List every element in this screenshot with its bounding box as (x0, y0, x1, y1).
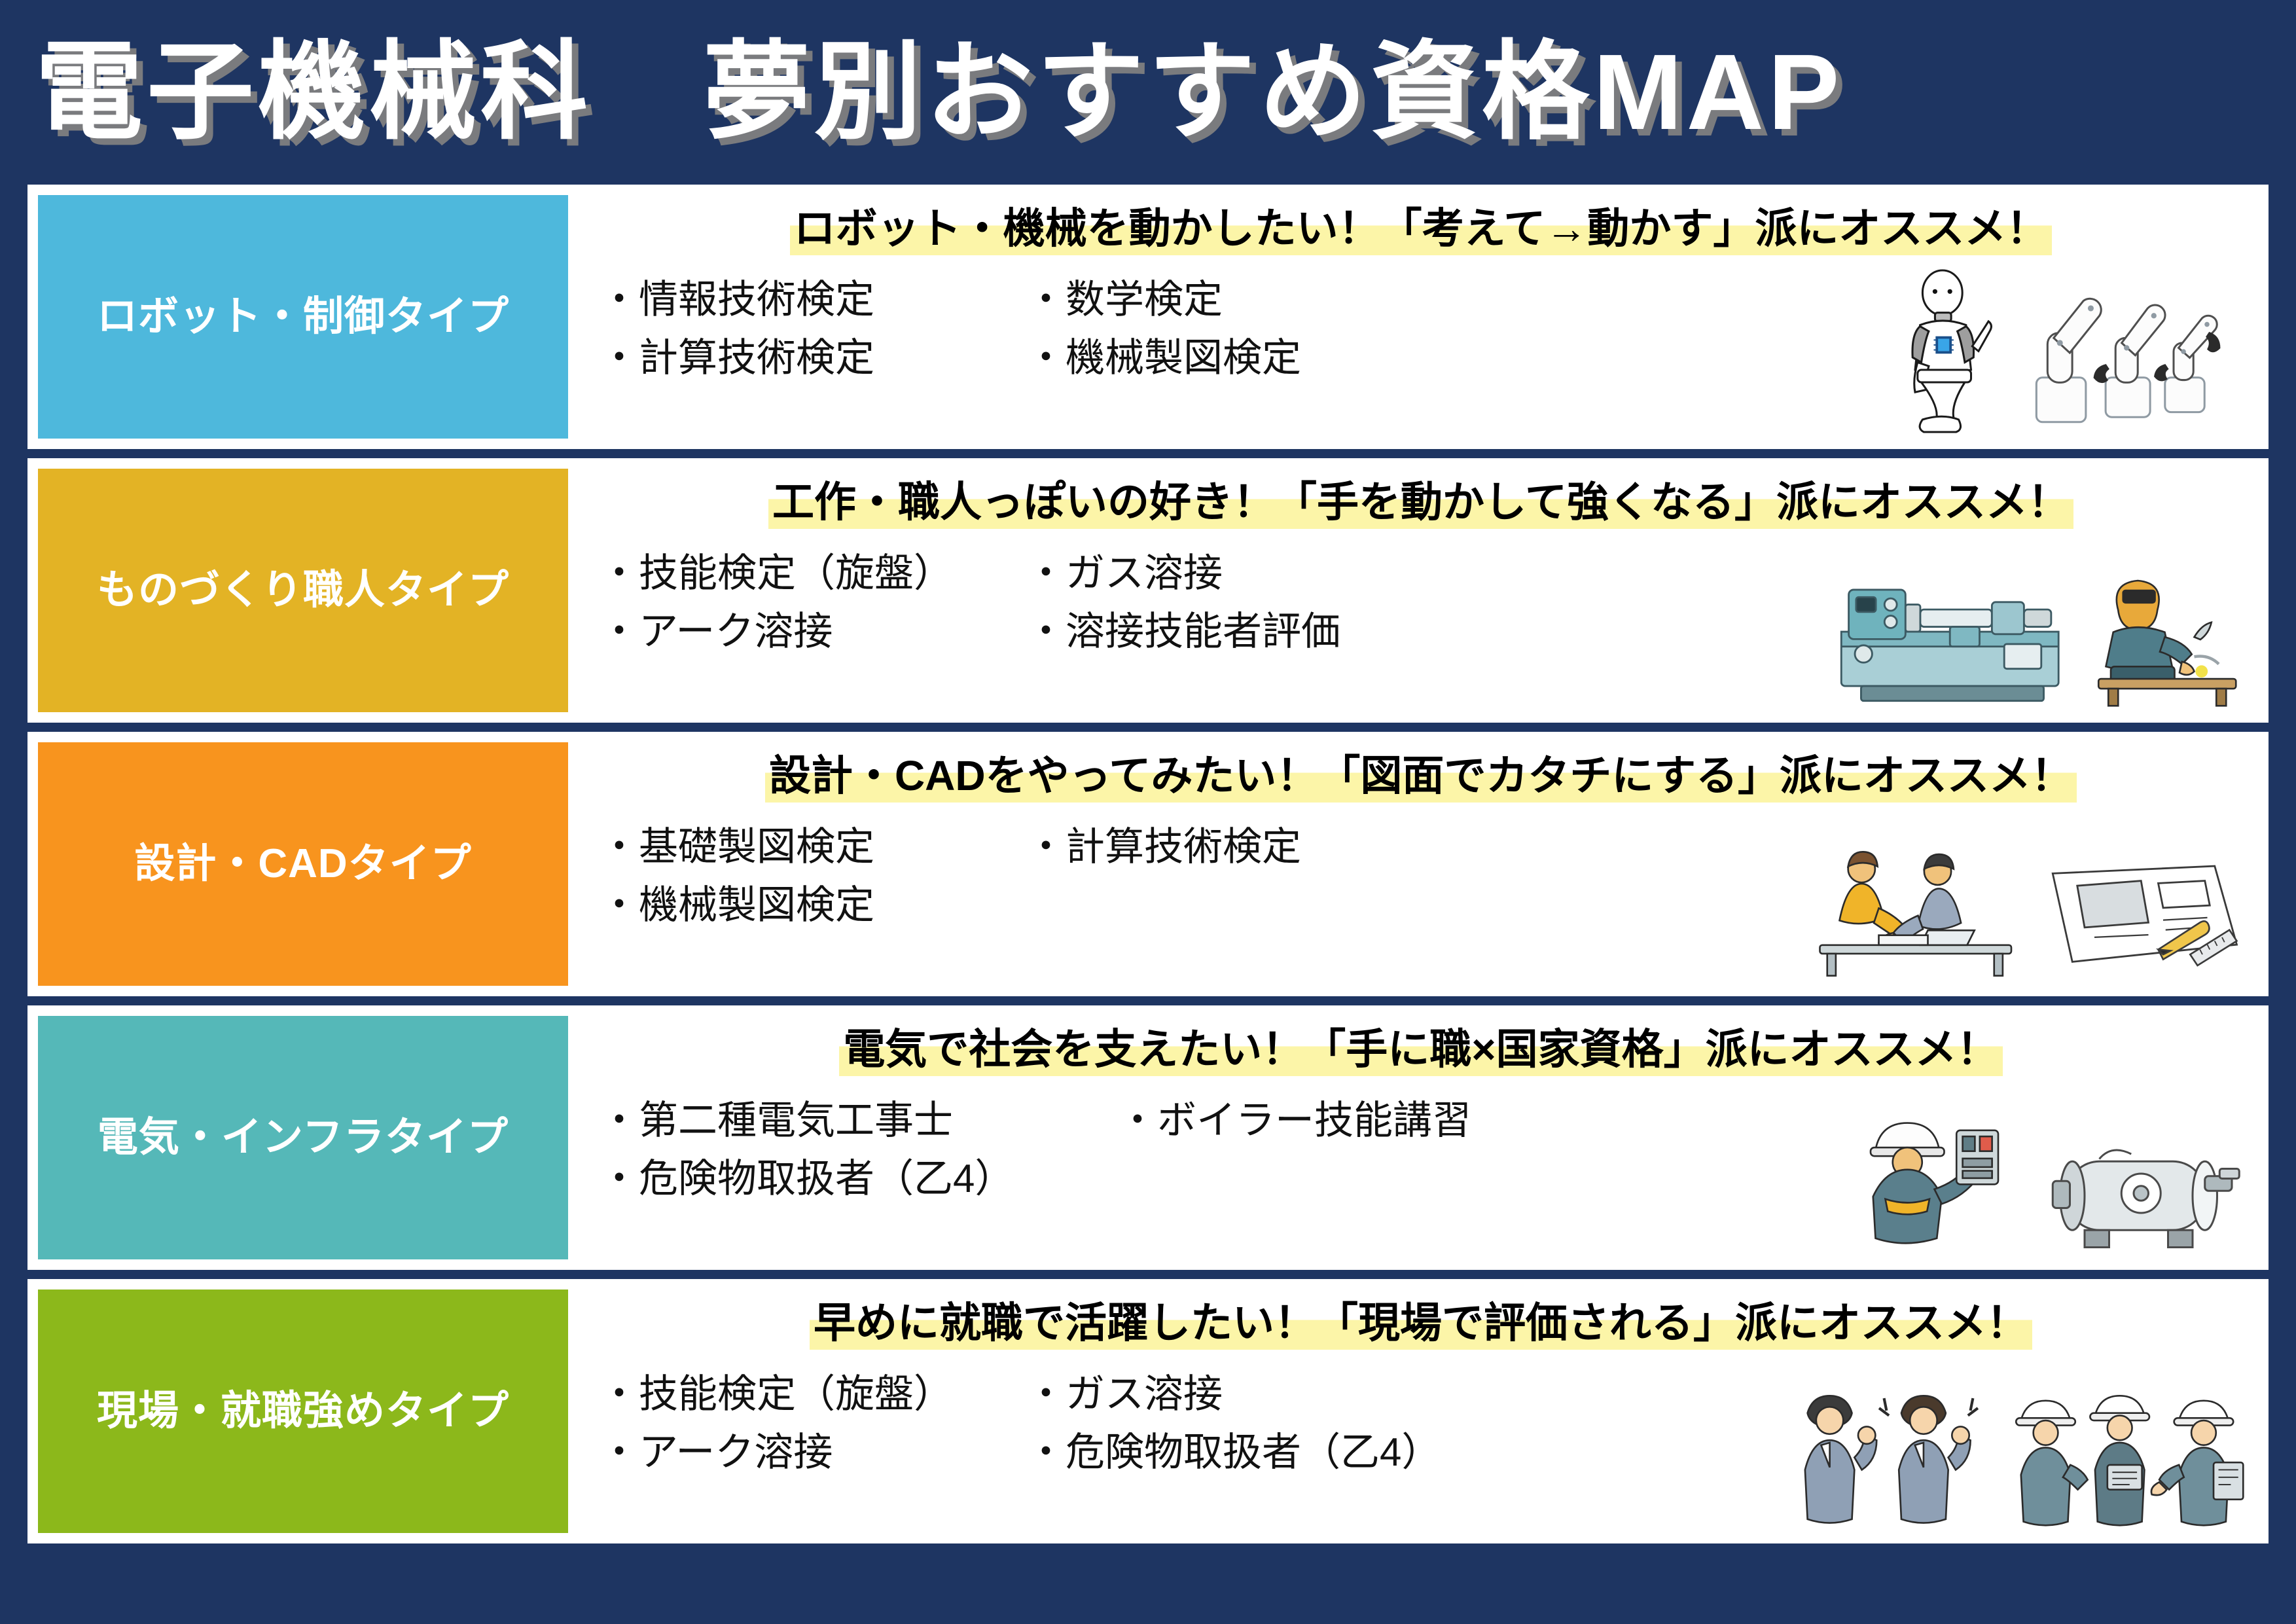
headline-wrap: 設計・CADをやってみたい！「図面でカタチにする」派にオススメ！ (590, 753, 2258, 803)
row-headline-jobsite: 早めに就職で活躍したい！「現場で評価される」派にオススメ！ (810, 1300, 2032, 1350)
list-item: ・技能検定（旋盤） (600, 549, 1005, 598)
row-headline-robot: ロボット・機械を動かしたい！「考えて→動かす」派にオススメ！ (790, 206, 2053, 255)
row-label-robot[interactable]: ロボット・制御タイプ (38, 195, 568, 439)
row-headline-cad: 設計・CADをやってみたい！「図面でカタチにする」派にオススメ！ (765, 753, 2077, 803)
category-rows: ロボット・制御タイプ ロボット・機械を動かしたい！「考えて→動かす」派にオススメ… (0, 185, 2296, 1567)
list-item: ・計算技術検定 (1026, 822, 2258, 871)
list-item (1118, 1154, 2258, 1203)
list-item: ・計算技術検定 (600, 333, 1005, 382)
list-item: ・ボイラー技能講習 (1118, 1096, 2258, 1145)
headline-wrap: 工作・職人っぽいの好き！「手を動かして強くなる」派にオススメ！ (590, 479, 2258, 529)
list-item: ・溶接技能者評価 (1026, 607, 2258, 656)
list-item: ・アーク溶接 (600, 607, 1005, 656)
row-items-electric: ・第二種電気工事士 ・ボイラー技能講習 ・危険物取扱者（乙4） (590, 1096, 2258, 1203)
title-bar: 電子機械科 夢別おすすめ資格MAP (0, 0, 2296, 185)
row-headline-electric: 電気で社会を支えたい！「手に職×国家資格」派にオススメ！ (839, 1026, 2002, 1076)
row-label-craft[interactable]: ものづくり職人タイプ (38, 469, 568, 712)
headline-wrap: 早めに就職で活躍したい！「現場で評価される」派にオススメ！ (590, 1300, 2258, 1350)
list-item: ・第二種電気工事士 (600, 1096, 1097, 1145)
row-label-jobsite[interactable]: 現場・就職強めタイプ (38, 1290, 568, 1533)
row-items-craft: ・技能検定（旋盤） ・ガス溶接 ・アーク溶接 ・溶接技能者評価 (590, 549, 2258, 656)
list-item: ・危険物取扱者（乙4） (600, 1154, 1097, 1203)
list-item: ・ガス溶接 (1026, 549, 2258, 598)
list-item: ・数学検定 (1026, 275, 2258, 324)
row-body-jobsite: 早めに就職で活躍したい！「現場で評価される」派にオススメ！ ・技能検定（旋盤） … (568, 1290, 2258, 1533)
row-label-cad[interactable]: 設計・CADタイプ (38, 742, 568, 986)
category-row-electric: 電気・インフラタイプ 電気で社会を支えたい！「手に職×国家資格」派にオススメ！ … (27, 1005, 2269, 1270)
list-item: ・機械製図検定 (1026, 333, 2258, 382)
list-item: ・危険物取扱者（乙4） (1026, 1428, 2258, 1477)
row-label-electric[interactable]: 電気・インフラタイプ (38, 1016, 568, 1259)
list-item: ・機械製図検定 (600, 880, 1005, 929)
category-row-jobsite: 現場・就職強めタイプ 早めに就職で活躍したい！「現場で評価される」派にオススメ！… (27, 1279, 2269, 1543)
row-body-cad: 設計・CADをやってみたい！「図面でカタチにする」派にオススメ！ ・基礎製図検定… (568, 742, 2258, 986)
row-body-craft: 工作・職人っぽいの好き！「手を動かして強くなる」派にオススメ！ ・技能検定（旋盤… (568, 469, 2258, 712)
row-headline-craft: 工作・職人っぽいの好き！「手を動かして強くなる」派にオススメ！ (768, 479, 2073, 529)
list-item (1026, 880, 2258, 929)
row-items-jobsite: ・技能検定（旋盤） ・ガス溶接 ・アーク溶接 ・危険物取扱者（乙4） (590, 1369, 2258, 1477)
list-item: ・情報技術検定 (600, 275, 1005, 324)
list-item: ・基礎製図検定 (600, 822, 1005, 871)
category-row-cad: 設計・CADタイプ 設計・CADをやってみたい！「図面でカタチにする」派にオスス… (27, 732, 2269, 996)
list-item: ・技能検定（旋盤） (600, 1369, 1005, 1418)
list-item: ・アーク溶接 (600, 1428, 1005, 1477)
row-items-robot: ・情報技術検定 ・数学検定 ・計算技術検定 ・機械製図検定 (590, 275, 2258, 382)
page-title: 電子機械科 夢別おすすめ資格MAP (35, 39, 1843, 146)
category-row-robot: ロボット・制御タイプ ロボット・機械を動かしたい！「考えて→動かす」派にオススメ… (27, 185, 2269, 449)
row-body-electric: 電気で社会を支えたい！「手に職×国家資格」派にオススメ！ ・第二種電気工事士 ・… (568, 1016, 2258, 1259)
row-body-robot: ロボット・機械を動かしたい！「考えて→動かす」派にオススメ！ ・情報技術検定 ・… (568, 195, 2258, 439)
list-item: ・ガス溶接 (1026, 1369, 2258, 1418)
category-row-craft: ものづくり職人タイプ 工作・職人っぽいの好き！「手を動かして強くなる」派にオスス… (27, 458, 2269, 723)
headline-wrap: ロボット・機械を動かしたい！「考えて→動かす」派にオススメ！ (590, 206, 2258, 255)
headline-wrap: 電気で社会を支えたい！「手に職×国家資格」派にオススメ！ (590, 1026, 2258, 1076)
row-items-cad: ・基礎製図検定 ・計算技術検定 ・機械製図検定 (590, 822, 2258, 929)
